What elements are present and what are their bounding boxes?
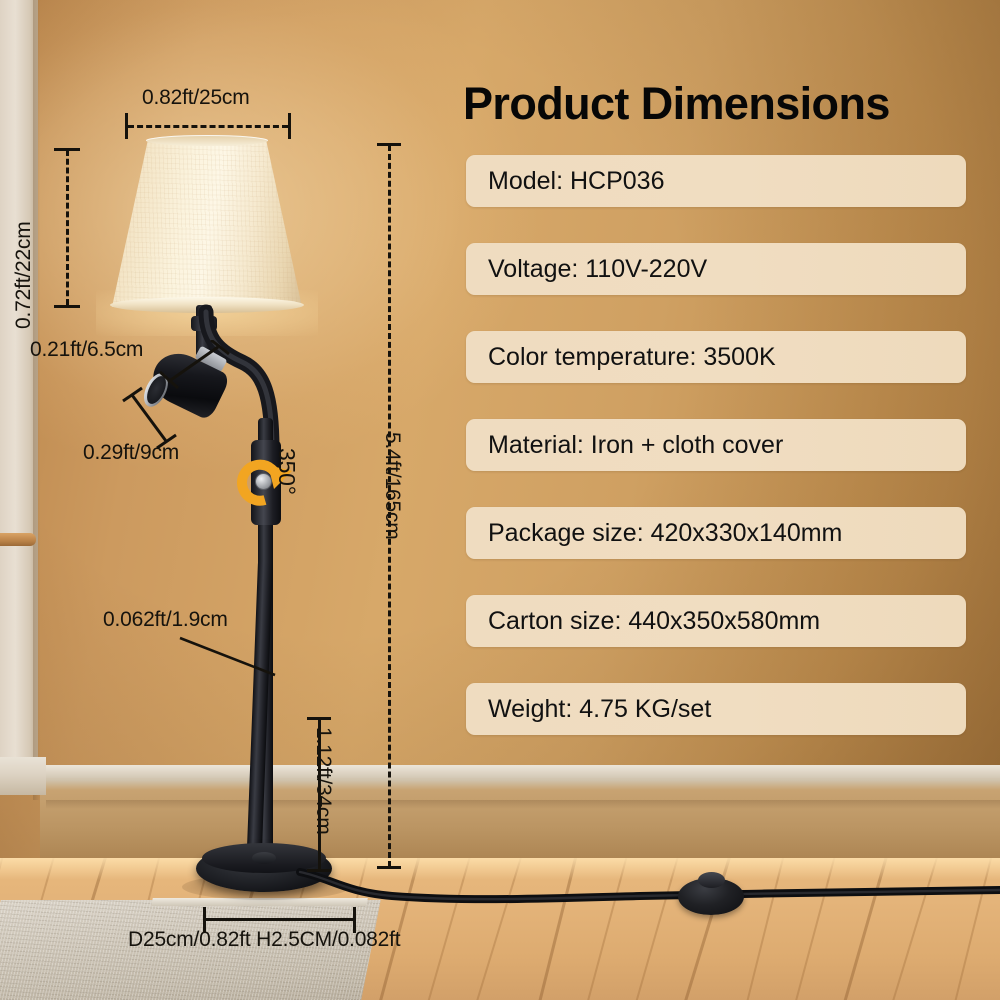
spec-row: Weight: 4.75 KG/set (466, 683, 966, 735)
dim-line-total-height (388, 145, 391, 867)
dim-line-shade-width (128, 125, 288, 128)
dim-line-base-height (318, 718, 321, 870)
spec-row: Package size: 420x330x140mm (466, 507, 966, 559)
spec-row-label: Material: Iron + cloth cover (466, 431, 783, 460)
dim-label-shade-width: 0.82ft/25cm (142, 86, 250, 110)
spec-row: Color temperature: 3500K (466, 331, 966, 383)
dim-leader-pole-diameter (175, 630, 285, 685)
spec-row-label: Package size: 420x330x140mm (466, 519, 842, 548)
spec-row: Carton size: 440x350x580mm (466, 595, 966, 647)
dim-label-rotation: 350° (273, 448, 300, 495)
product-dimensions-infographic: 0.82ft/25cm 0.72ft/22cm 0.21ft/6.5cm 0.2… (0, 0, 1000, 1000)
dim-line-spot-diameter (118, 385, 228, 460)
spec-row-label: Weight: 4.75 KG/set (466, 695, 711, 724)
baseboard-left (0, 757, 46, 795)
dim-line-shade-height (66, 150, 69, 305)
page-title: Product Dimensions (463, 78, 890, 130)
spec-row-label: Color temperature: 3500K (466, 343, 776, 372)
dim-line-base-size (205, 918, 354, 921)
spec-row-label: Carton size: 440x350x580mm (466, 607, 820, 636)
power-cord (0, 820, 1000, 1000)
spec-list: Model: HCP036Voltage: 110V-220VColor tem… (466, 155, 966, 771)
dim-tick-shade-width-right (288, 113, 291, 139)
dim-label-base-height: 1.12ft/34cm (311, 727, 335, 835)
foot-switch-button[interactable] (698, 872, 725, 888)
dim-label-pole-diameter: 0.062ft/1.9cm (103, 608, 228, 632)
spec-row: Material: Iron + cloth cover (466, 419, 966, 471)
dim-label-total-height: 5.4ft/165cm (380, 432, 404, 540)
spec-row-label: Model: HCP036 (466, 167, 664, 196)
dim-label-base-size: D25cm/0.82ft H2.5CM/0.082ft (128, 928, 400, 952)
joint-screw (255, 473, 272, 490)
wall-corner-shadow (33, 0, 40, 800)
spec-row: Voltage: 110V-220V (466, 243, 966, 295)
baseboard-step-shadow (46, 800, 1000, 809)
spec-row-label: Voltage: 110V-220V (466, 255, 707, 284)
lamp-shade-top-ring (146, 135, 268, 146)
dim-label-shade-height: 0.72ft/22cm (12, 221, 36, 329)
dim-label-spot-length: 0.21ft/6.5cm (30, 338, 143, 362)
spec-row: Model: HCP036 (466, 155, 966, 207)
dim-tick-shade-height-bottom (54, 305, 80, 308)
wood-rail (0, 533, 36, 546)
